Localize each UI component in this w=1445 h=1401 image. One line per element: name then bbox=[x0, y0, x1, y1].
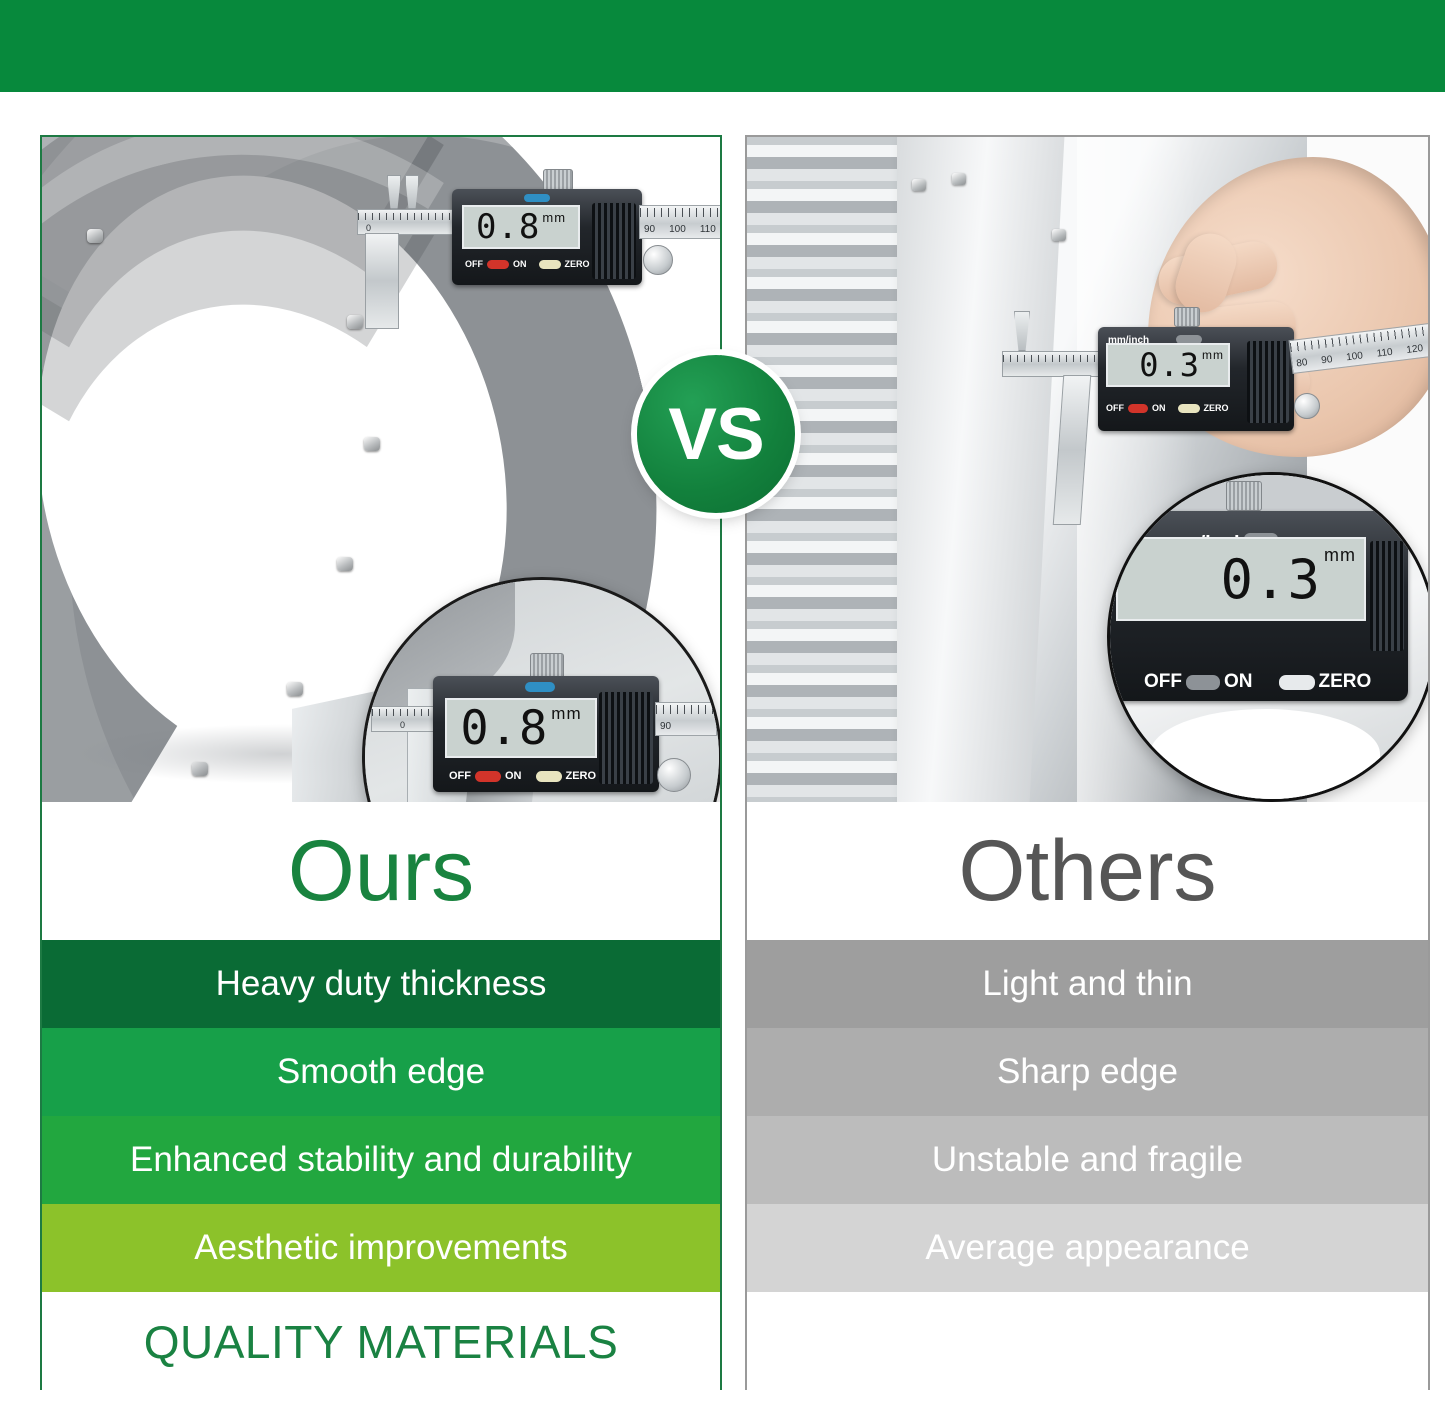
magnifier-lcd-others: 0.3 mm bbox=[1116, 537, 1366, 621]
ours-feature-bar-4: Aesthetic improvements bbox=[42, 1204, 720, 1292]
caliper-reading-value: 0.8 bbox=[476, 207, 540, 247]
magnifier-on-label: ON bbox=[505, 770, 522, 782]
magnifier-scale-beam: 90 bbox=[655, 702, 717, 736]
others-feature-bar-2: Sharp edge bbox=[747, 1028, 1428, 1116]
ours-feature-label-2: Smooth edge bbox=[277, 1052, 485, 1092]
others-footer bbox=[747, 1292, 1428, 1392]
caliper-unit-label: mm bbox=[1202, 348, 1224, 362]
magnifier-scale-zero: 0 bbox=[400, 720, 405, 730]
panel-bolt bbox=[912, 179, 926, 191]
magnifier-button-row-others: OFF ON ZERO bbox=[1144, 671, 1371, 693]
vs-label: VS bbox=[668, 398, 763, 471]
caliper-thumb-screw bbox=[543, 169, 573, 191]
caliper-power-switch[interactable] bbox=[487, 260, 509, 269]
caliper-on-label: ON bbox=[513, 259, 527, 269]
others-feature-bars: Light and thin Sharp edge Unstable and f… bbox=[747, 940, 1428, 1292]
magnifier-power-switch[interactable] bbox=[1186, 675, 1220, 690]
ours-feature-label-4: Aesthetic improvements bbox=[194, 1228, 567, 1268]
caliper-zero-switch[interactable] bbox=[1178, 404, 1200, 413]
magnifier-reading-value: 0.3 bbox=[1220, 548, 1321, 611]
magnifier-grip-ridges bbox=[1370, 541, 1404, 651]
caliper-jaw-bar: 0 bbox=[357, 209, 453, 235]
caliper-thumb-screw bbox=[1174, 307, 1200, 327]
scale-num: 110 bbox=[1376, 347, 1393, 361]
caliper-grip-ridges bbox=[1247, 341, 1289, 423]
caliper-zero-switch[interactable] bbox=[539, 260, 561, 269]
others-feature-bar-1: Light and thin bbox=[747, 940, 1428, 1028]
magnifier-unit-label: mm bbox=[551, 704, 581, 724]
magnifier-reading-value: 0.8 bbox=[460, 701, 548, 756]
top-green-banner bbox=[0, 0, 1445, 92]
magnifier-power-switch[interactable] bbox=[475, 771, 501, 782]
magnifier-zero-label: ZERO bbox=[1319, 671, 1372, 693]
others-feature-label-3: Unstable and fragile bbox=[932, 1140, 1243, 1180]
caliper-scale-beam: 80 90 100 110 120 bbox=[1288, 322, 1428, 374]
caliper-lcd-others: 0.3 mm bbox=[1106, 343, 1230, 387]
caliper-scale-zero: 0 bbox=[366, 223, 371, 233]
caliper-upper-jaw-tip-2 bbox=[405, 175, 419, 209]
others-feature-label-2: Sharp edge bbox=[997, 1052, 1178, 1092]
caliper-lower-jaw bbox=[1053, 375, 1091, 525]
ring-bolt bbox=[364, 437, 380, 451]
caliper-button-row-others: OFF ON ZERO bbox=[1106, 403, 1229, 413]
ours-feature-label-3: Enhanced stability and durability bbox=[130, 1140, 632, 1180]
magnifier-bottom-white bbox=[1150, 709, 1380, 799]
ours-panel: 0 0.8 mm OFF ON bbox=[40, 135, 722, 1390]
caliper-zero-label: ZERO bbox=[565, 259, 590, 269]
ours-footer: QUALITY MATERIALS bbox=[42, 1292, 720, 1392]
caliper-lower-jaw bbox=[365, 233, 399, 329]
magnifier-off-label: OFF bbox=[1144, 671, 1182, 693]
magnifier-zero-switch[interactable] bbox=[536, 771, 562, 782]
panel-bolt bbox=[952, 173, 966, 185]
scale-num: 110 bbox=[700, 224, 716, 236]
magnifier-blue-indicator bbox=[525, 682, 555, 692]
ring-bolt bbox=[287, 682, 303, 696]
others-product-photo: mm/inch 0.3 mm OFF ON ZERO bbox=[747, 137, 1428, 802]
caliper-off-label: OFF bbox=[1106, 403, 1124, 413]
magnifier-thumb-screw bbox=[1226, 481, 1262, 511]
others-title-zone: Others bbox=[747, 802, 1428, 940]
ours-title: Ours bbox=[288, 828, 474, 914]
others-feature-bar-3: Unstable and fragile bbox=[747, 1116, 1428, 1204]
magnifier-off-label: OFF bbox=[449, 770, 471, 782]
scale-num: 120 bbox=[1406, 343, 1424, 357]
magnifier-inset-ours: 0 0.8 mm OFF ON ZERO bbox=[362, 577, 720, 802]
caliper-scale-beam: 90 100 110 bbox=[639, 205, 720, 239]
caliper-power-switch[interactable] bbox=[1128, 404, 1148, 413]
magnifier-grip-ridges bbox=[599, 692, 653, 784]
caliper-button-row-ours: OFF ON ZERO bbox=[465, 259, 590, 269]
magnifier-unit-label: mm bbox=[1324, 545, 1356, 566]
vs-badge: VS bbox=[637, 355, 795, 513]
magnifier-scale-numbers: 90 bbox=[660, 721, 716, 733]
digital-caliper-ours: 0 0.8 mm OFF ON bbox=[357, 167, 720, 327]
others-feature-label-1: Light and thin bbox=[982, 964, 1192, 1004]
scale-num: 100 bbox=[669, 224, 686, 236]
scale-num: 80 bbox=[1296, 357, 1309, 370]
scale-num: 90 bbox=[660, 721, 671, 733]
caliper-scale-numbers: 90 100 110 bbox=[644, 224, 720, 236]
caliper-on-label: ON bbox=[1152, 403, 1166, 413]
others-feature-bar-4: Average appearance bbox=[747, 1204, 1428, 1292]
caliper-grip-ridges bbox=[592, 203, 636, 279]
caliper-reading-value: 0.3 bbox=[1139, 346, 1200, 384]
caliper-off-label: OFF bbox=[465, 259, 483, 269]
quality-materials-text: QUALITY MATERIALS bbox=[144, 1315, 619, 1369]
ring-bolt bbox=[87, 229, 103, 243]
scale-num: 90 bbox=[1321, 354, 1334, 367]
others-title: Others bbox=[958, 828, 1216, 914]
caliper-upper-jaw-tip bbox=[1014, 311, 1030, 351]
scale-num: 90 bbox=[644, 224, 655, 236]
caliper-unit-label: mm bbox=[542, 210, 566, 225]
magnifier-inset-others: mm/inch 0.3 mm OFF ON ZERO bbox=[1107, 472, 1428, 802]
others-feature-label-4: Average appearance bbox=[925, 1228, 1249, 1268]
ours-feature-bar-1: Heavy duty thickness bbox=[42, 940, 720, 1028]
magnifier-zero-switch[interactable] bbox=[1279, 675, 1315, 690]
ours-feature-bar-2: Smooth edge bbox=[42, 1028, 720, 1116]
ours-feature-bars: Heavy duty thickness Smooth edge Enhance… bbox=[42, 940, 720, 1292]
others-panel: mm/inch 0.3 mm OFF ON ZERO bbox=[745, 135, 1430, 1390]
comparison-infographic: 0 0.8 mm OFF ON bbox=[0, 0, 1445, 1401]
magnifier-on-label: ON bbox=[1224, 671, 1253, 693]
magnifier-button-row-ours: OFF ON ZERO bbox=[449, 770, 596, 782]
caliper-roller-wheel[interactable] bbox=[643, 245, 673, 275]
panel-bolt bbox=[1052, 229, 1066, 241]
caliper-upper-jaw-tip bbox=[387, 175, 401, 209]
magnifier-zero-label: ZERO bbox=[566, 770, 597, 782]
caliper-roller-wheel[interactable] bbox=[1294, 393, 1320, 419]
caliper-blue-indicator bbox=[524, 194, 550, 202]
ours-product-photo: 0 0.8 mm OFF ON bbox=[42, 137, 720, 802]
caliper-lcd-ours: 0.8 mm bbox=[462, 205, 580, 249]
ours-title-zone: Ours bbox=[42, 802, 720, 940]
ring-bolt bbox=[337, 557, 353, 571]
ours-feature-bar-3: Enhanced stability and durability bbox=[42, 1116, 720, 1204]
caliper-zero-label: ZERO bbox=[1204, 403, 1229, 413]
ours-feature-label-1: Heavy duty thickness bbox=[216, 964, 547, 1004]
scale-num: 100 bbox=[1346, 350, 1364, 364]
magnifier-lcd-ours: 0.8 mm bbox=[445, 698, 597, 758]
magnifier-roller-wheel[interactable] bbox=[657, 758, 691, 792]
